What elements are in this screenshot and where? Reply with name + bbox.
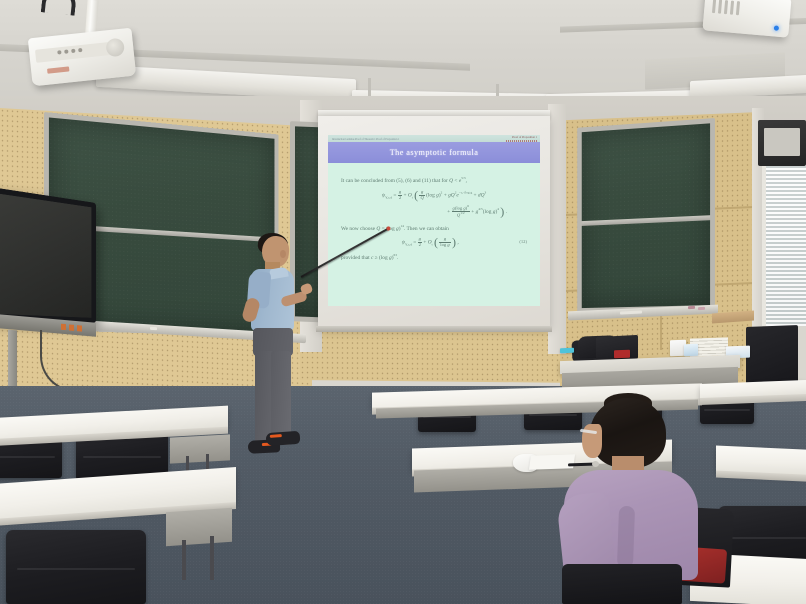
presenter-shoe [266, 431, 301, 446]
student-desk [700, 380, 806, 399]
ac-vent-panel [764, 128, 800, 156]
slide-nav-section: Proof of Proposition 1 [506, 136, 537, 142]
attendee-shirt-fold [617, 506, 635, 569]
seated-attendee [560, 398, 730, 604]
slide-body: It can be concluded from (5), (6) and (1… [328, 163, 540, 306]
slide-title-bar: The asymptotic formula [328, 142, 540, 163]
lecture-room-photo: Introduction Lemmas Proof of Theorem 1 P… [0, 0, 806, 604]
display-screen [0, 192, 91, 318]
screen-bottom-weight-bar [316, 326, 552, 332]
wall-column [548, 104, 566, 354]
desk-skirt [166, 508, 232, 547]
blackboard-right [577, 118, 715, 313]
presenter-ear [280, 250, 286, 258]
wall-mounted-display-left[interactable] [0, 186, 96, 323]
red-folder[interactable] [614, 350, 630, 359]
slide-intro-line: It can be concluded from (5), (6) and (1… [341, 176, 527, 185]
window-with-blinds [762, 148, 806, 326]
chalk-piece[interactable] [698, 307, 705, 310]
attendee-chair-seat[interactable] [562, 564, 682, 604]
shoe-accent-stripe [270, 434, 282, 438]
presentation-slide: The asymptotic formula It can be conclud… [328, 142, 540, 306]
blackboard-divider [582, 215, 710, 226]
slide-middle-line: We now choose Q = (log g)14. Then we can… [341, 224, 527, 233]
slide-equation-2-tag: (12) [519, 238, 527, 245]
slide-equation-1: ψY,c,d = g2 + Ot ( gQ (log g)2 + gQ2e−c₁… [341, 190, 527, 201]
desk-skirt [170, 434, 230, 463]
chalk-piece[interactable] [688, 306, 695, 309]
desk-leg [182, 540, 186, 580]
slide-nav-crumbs: Introduction Lemmas Proof of Theorem 1 P… [332, 138, 399, 141]
chalk-piece[interactable] [150, 327, 157, 330]
desk-leg [210, 536, 214, 580]
projector-vents [712, 0, 740, 15]
equipment-cabinet[interactable] [746, 325, 798, 387]
blue-marker[interactable] [560, 348, 574, 353]
window-blinds[interactable] [766, 148, 806, 326]
wall-air-conditioner [758, 120, 806, 166]
projector-brand-logo [47, 66, 69, 73]
tissue-box[interactable] [684, 344, 698, 356]
presenter-lecturer [244, 236, 306, 460]
slide-equation-1-continued: + g(log g)6Q1/2 + g4/5(log g)4 ) . [341, 205, 527, 218]
slide-title: The asymptotic formula [390, 148, 479, 157]
slide-closing-line: provided that c ≥ (log g)63. [341, 253, 527, 262]
projector-power-led-icon [774, 25, 779, 30]
pull-down-projection-screen: Introduction Lemmas Proof of Theorem 1 P… [318, 116, 550, 328]
light-hanger [368, 78, 371, 96]
student-chair[interactable] [6, 530, 146, 604]
